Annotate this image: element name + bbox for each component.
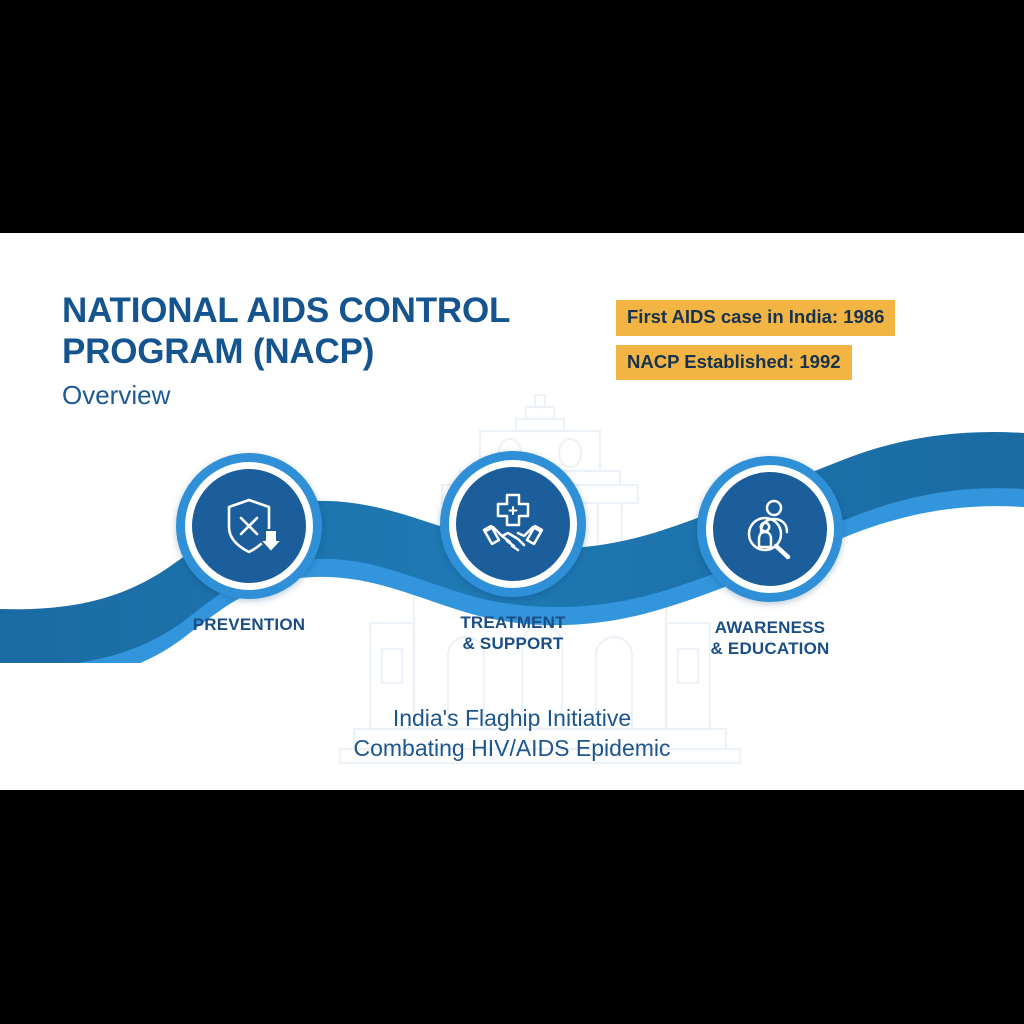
pillar-ring xyxy=(176,453,322,599)
pillar-label: AWARENESS & EDUCATION xyxy=(697,618,843,659)
headline-block: NATIONAL AIDS CONTROL PROGRAM (NACP) Ove… xyxy=(62,291,602,410)
fact-badge-row: First AIDS case in India: 1986 xyxy=(616,300,895,336)
pillar-label: PREVENTION xyxy=(176,615,322,636)
pillar-label-line: TREATMENT xyxy=(440,613,586,634)
pillar-label-line: PREVENTION xyxy=(176,615,322,636)
shield-x-arrow-icon xyxy=(213,490,285,562)
pillar-ring xyxy=(440,451,586,597)
page-subtitle: Overview xyxy=(62,381,602,410)
pillar-label: TREATMENT & SUPPORT xyxy=(440,613,586,654)
infographic-panel: NATIONAL AIDS CONTROL PROGRAM (NACP) Ove… xyxy=(0,233,1024,790)
pillar-prevention[interactable]: PREVENTION xyxy=(176,453,322,636)
ring-inner xyxy=(456,467,570,581)
slide-stage: NATIONAL AIDS CONTROL PROGRAM (NACP) Ove… xyxy=(0,0,1024,1024)
page-title-line-1: NATIONAL AIDS CONTROL xyxy=(62,291,602,332)
tagline-line-2: Combating HIV/AIDS Epidemic xyxy=(0,733,1024,763)
tagline-block: India's Flaghip Initiative Combating HIV… xyxy=(0,703,1024,764)
letterbox-bottom xyxy=(0,790,1024,1024)
pillar-label-line: & SUPPORT xyxy=(440,634,586,655)
page-title-line-2: PROGRAM (NACP) xyxy=(62,332,602,373)
pillar-ring xyxy=(697,456,843,602)
tagline-line-1: India's Flaghip Initiative xyxy=(0,703,1024,733)
pillar-treatment[interactable]: TREATMENT & SUPPORT xyxy=(440,451,586,654)
person-magnifier-icon xyxy=(735,494,805,564)
letterbox-top xyxy=(0,0,1024,233)
pillar-awareness[interactable]: AWARENESS & EDUCATION xyxy=(697,456,843,659)
medical-cross-handshake-icon xyxy=(476,487,550,561)
pillar-label-line: & EDUCATION xyxy=(697,639,843,660)
badge-nacp-established: NACP Established: 1992 xyxy=(616,345,852,381)
pillar-label-line: AWARENESS xyxy=(697,618,843,639)
badge-first-aids-case: First AIDS case in India: 1986 xyxy=(616,300,895,336)
fact-badge-group: First AIDS case in India: 1986 NACP Esta… xyxy=(616,300,895,380)
fact-badge-row: NACP Established: 1992 xyxy=(616,345,895,381)
ring-inner xyxy=(192,469,306,583)
ring-inner xyxy=(713,472,827,586)
